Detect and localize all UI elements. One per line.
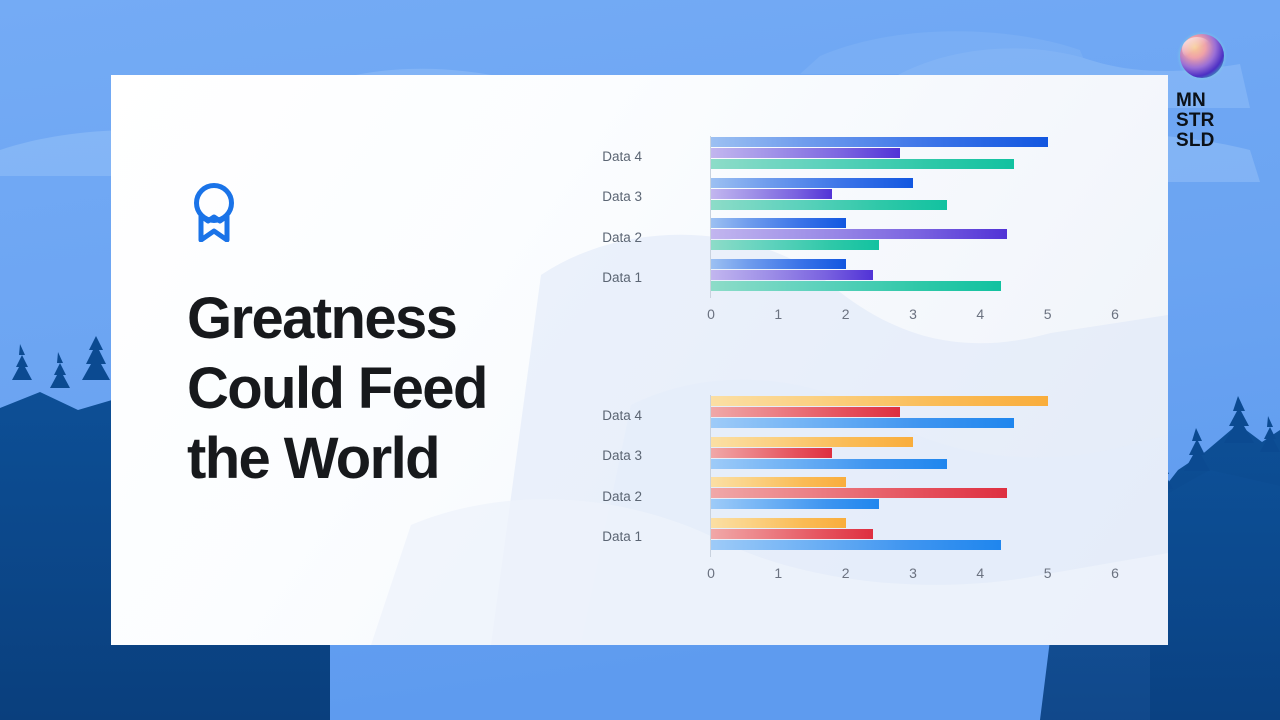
bar bbox=[711, 200, 947, 210]
slide-card: Greatness Could Feed the World Data 4Dat… bbox=[111, 75, 1168, 645]
bar bbox=[711, 407, 900, 417]
chart-1-category-label: Data 1 bbox=[580, 258, 642, 299]
bar bbox=[711, 459, 947, 469]
bar-group bbox=[711, 517, 1115, 558]
bar bbox=[711, 137, 1048, 147]
bar bbox=[711, 270, 873, 280]
chart-2-bars bbox=[711, 395, 1115, 557]
slide-left-column: Greatness Could Feed the World bbox=[187, 180, 607, 495]
headline-line-3: the World bbox=[187, 426, 439, 491]
x-tick-label: 4 bbox=[976, 306, 984, 322]
chart-1-category-label: Data 3 bbox=[580, 177, 642, 218]
bar bbox=[711, 178, 913, 188]
chart-1-bars bbox=[711, 136, 1115, 298]
headline-line-1: Greatness bbox=[187, 286, 456, 351]
gradient-sphere-logo-icon bbox=[1176, 30, 1228, 82]
bar-group bbox=[711, 136, 1115, 177]
bar bbox=[711, 189, 832, 199]
logo-line-1: MN bbox=[1176, 91, 1232, 111]
bar bbox=[711, 229, 1007, 239]
chart-1-category-label: Data 4 bbox=[580, 136, 642, 177]
bar bbox=[711, 148, 900, 158]
bar bbox=[711, 437, 913, 447]
x-tick-label: 5 bbox=[1044, 306, 1052, 322]
x-tick-label: 6 bbox=[1111, 565, 1119, 581]
bar bbox=[711, 477, 846, 487]
bar bbox=[711, 240, 879, 250]
x-tick-label: 1 bbox=[774, 565, 782, 581]
page-title: Greatness Could Feed the World bbox=[187, 284, 607, 495]
bar bbox=[711, 159, 1014, 169]
award-ribbon-icon bbox=[187, 180, 241, 242]
bar bbox=[711, 518, 846, 528]
bar bbox=[711, 540, 1001, 550]
bar-chart-2: Data 4Data 3Data 2Data 1 0123456 bbox=[646, 389, 1116, 579]
headline-line-2: Could Feed bbox=[187, 356, 487, 421]
bar bbox=[711, 448, 832, 458]
chart-1-category-labels: Data 4Data 3Data 2Data 1 bbox=[580, 136, 642, 298]
chart-2-category-labels: Data 4Data 3Data 2Data 1 bbox=[580, 395, 642, 557]
bar-group bbox=[711, 217, 1115, 258]
x-tick-label: 5 bbox=[1044, 565, 1052, 581]
bar bbox=[711, 488, 1007, 498]
logo-line-2: STR bbox=[1176, 111, 1232, 131]
chart-1-x-axis-ticks: 0123456 bbox=[711, 306, 1115, 326]
brand-logo-text: MN STR SLD bbox=[1176, 91, 1232, 150]
bar-chart-1: Data 4Data 3Data 2Data 1 0123456 bbox=[646, 130, 1116, 320]
chart-1-category-label: Data 2 bbox=[580, 217, 642, 258]
x-tick-label: 6 bbox=[1111, 306, 1119, 322]
bar-group bbox=[711, 395, 1115, 436]
bar-group bbox=[711, 476, 1115, 517]
x-tick-label: 0 bbox=[707, 565, 715, 581]
bar bbox=[711, 499, 879, 509]
x-tick-label: 3 bbox=[909, 306, 917, 322]
x-tick-label: 1 bbox=[774, 306, 782, 322]
x-tick-label: 4 bbox=[976, 565, 984, 581]
bar bbox=[711, 281, 1001, 291]
bar-group bbox=[711, 258, 1115, 299]
x-tick-label: 3 bbox=[909, 565, 917, 581]
bar-group bbox=[711, 436, 1115, 477]
bar bbox=[711, 259, 846, 269]
x-tick-label: 0 bbox=[707, 306, 715, 322]
bar bbox=[711, 396, 1048, 406]
x-tick-label: 2 bbox=[842, 565, 850, 581]
brand-logo: MN STR SLD bbox=[1176, 30, 1232, 150]
x-tick-label: 2 bbox=[842, 306, 850, 322]
logo-line-3: SLD bbox=[1176, 131, 1232, 151]
bar bbox=[711, 529, 873, 539]
chart-2-category-label: Data 3 bbox=[580, 436, 642, 477]
chart-2-category-label: Data 2 bbox=[580, 476, 642, 517]
chart-2-x-axis-ticks: 0123456 bbox=[711, 565, 1115, 585]
bar-group bbox=[711, 177, 1115, 218]
chart-2-category-label: Data 4 bbox=[580, 395, 642, 436]
bar bbox=[711, 218, 846, 228]
bar bbox=[711, 418, 1014, 428]
chart-2-category-label: Data 1 bbox=[580, 517, 642, 558]
